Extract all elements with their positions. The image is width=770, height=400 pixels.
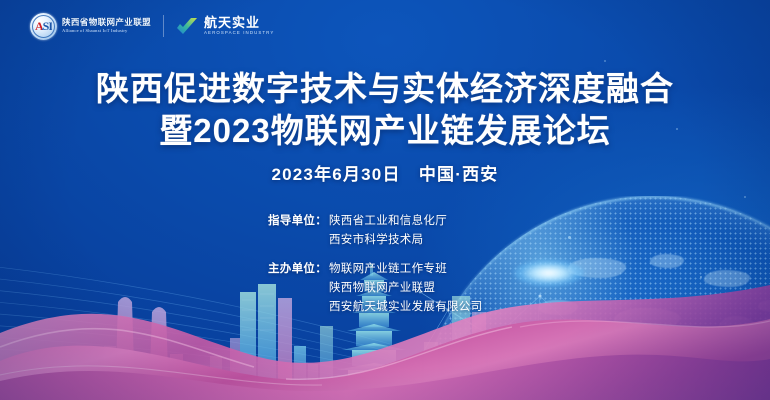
guidance-units-row: 指导单位： 陕西省工业和信息化厅 西安市科学技术局 (268, 212, 482, 249)
alliance-logo: ASI 陕西省物联网产业联盟 Alliance of Shaanxi IoT I… (30, 13, 151, 40)
sparkle (700, 276, 702, 278)
guidance-units-label: 指导单位： (268, 212, 327, 231)
logo-divider (163, 15, 164, 37)
alliance-en-name: Alliance of Shaanxi IoT Industry (62, 29, 151, 34)
asi-circle-logo-icon: ASI (30, 13, 57, 40)
host-unit-3: 西安航天城实业发展有限公司 (329, 298, 482, 317)
aerospace-logo: 航天实业 AEROSPACE INDUSTRY (176, 16, 274, 35)
guidance-unit-1: 陕西省工业和信息化厅 (329, 212, 447, 231)
aerospace-checkmark-logo-icon (176, 17, 198, 35)
asi-mark-text: ASI (35, 20, 52, 32)
sparkle (744, 196, 746, 198)
aerospace-en-name: AEROSPACE INDUSTRY (204, 31, 274, 35)
headline-line-1: 陕西促进数字技术与实体经济深度融合 (0, 68, 770, 110)
sparkle (604, 60, 606, 62)
host-units-row: 主办单位： 物联网产业链工作专班 陕西物联网产业联盟 西安航天城实业发展有限公司 (268, 260, 482, 316)
event-dateline: 2023年6月30日 中国·西安 (0, 160, 770, 185)
organizer-block: 指导单位： 陕西省工业和信息化厅 西安市科学技术局 主办单位： 物联网产业链工作… (268, 212, 482, 316)
sparkle (640, 320, 642, 322)
banner-headline: 陕西促进数字技术与实体经济深度融合 暨2023物联网产业链发展论坛 (0, 68, 770, 152)
alliance-cn-name: 陕西省物联网产业联盟 (62, 18, 151, 27)
host-units-label: 主办单位： (268, 260, 327, 279)
sparkle (568, 236, 571, 239)
vignette-overlay (0, 0, 770, 400)
headline-line-2: 暨2023物联网产业链发展论坛 (0, 110, 770, 152)
forum-banner: ASI 陕西省物联网产业联盟 Alliance of Shaanxi IoT I… (0, 0, 770, 400)
host-unit-1: 物联网产业链工作专班 (329, 260, 482, 279)
guidance-unit-2: 西安市科学技术局 (329, 231, 447, 250)
logo-bar: ASI 陕西省物联网产业联盟 Alliance of Shaanxi IoT I… (30, 11, 274, 41)
host-unit-2: 陕西物联网产业联盟 (329, 279, 482, 298)
aerospace-cn-name: 航天实业 (204, 16, 274, 29)
